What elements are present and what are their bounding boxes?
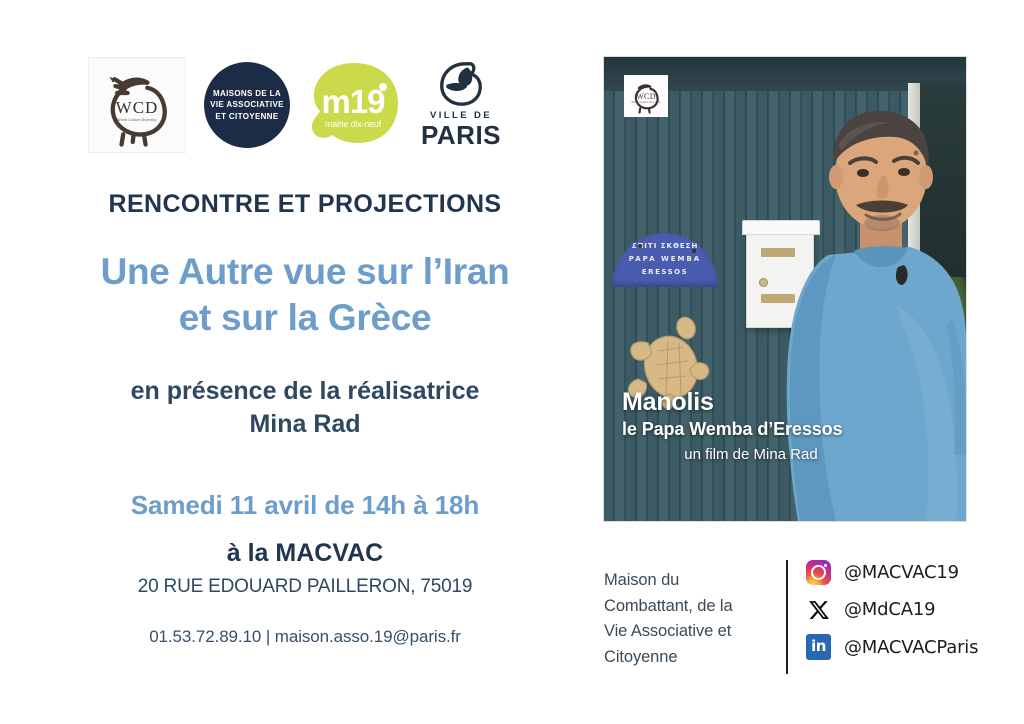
poster-subtitle: le Papa Wemba d’Eressos	[622, 419, 922, 440]
linkedin-handle: @MACVACParis	[844, 637, 978, 658]
sign-line-1: ΣΠΙΤΙ ΣΚΘΕΣΗ	[612, 242, 718, 250]
event-presence-line-2: Mina Rad	[40, 408, 570, 442]
poster-title: Manolis	[622, 389, 922, 415]
linkedin-icon: in	[806, 634, 831, 660]
paris-boat-icon	[438, 62, 484, 106]
event-headline-line-1: Une Autre vue sur l’Iran	[40, 249, 570, 295]
instagram-handle: @MACVAC19	[844, 562, 959, 583]
wcd-goat-icon	[627, 78, 665, 114]
instagram-icon	[806, 560, 831, 585]
venue-line-4: Citoyenne	[604, 645, 774, 671]
poster-caption: Manolis le Papa Wemba d’Eressos un film …	[622, 389, 922, 463]
venue-line-3: Vie Associative et	[604, 619, 774, 645]
social-link-linkedin[interactable]: in @MACVACParis	[806, 634, 978, 660]
venue-line-1: Maison du	[604, 568, 774, 594]
sign-line-3: ERESSOS	[612, 268, 718, 276]
event-address: 20 RUE EDOUARD PAILLERON, 75019	[40, 576, 570, 598]
logo-macvac-circle: MAISONS DE LA VIE ASSOCIATIVE ET CITOYEN…	[204, 62, 290, 148]
mailbox-lock-icon	[759, 278, 768, 287]
footer-section: Maison du Combattant, de la Vie Associat…	[604, 560, 1004, 674]
poster-wcd-badge: WCD World Culture Diversity	[624, 75, 668, 117]
macvac-circle-text: MAISONS DE LA VIE ASSOCIATIVE ET CITOYEN…	[210, 88, 284, 123]
vertical-divider	[786, 560, 788, 674]
logo-ville-de-paris: VILLE DE PARIS	[418, 59, 504, 151]
social-link-instagram[interactable]: @MACVAC19	[806, 560, 978, 585]
event-headline: Une Autre vue sur l’Iran et sur la Grèce	[40, 249, 570, 342]
blue-house-sign: ΣΠΙΤΙ ΣΚΘΕΣΗ PAPA WEMBA ERESSOS	[612, 233, 718, 287]
event-venue-name: à la MACVAC	[40, 539, 570, 568]
m19-dot-icon	[379, 83, 387, 91]
wcd-goat-icon	[93, 62, 181, 148]
m19-logo-subtext: mairie dix-neuf	[308, 119, 398, 129]
social-link-x[interactable]: @MdCA19	[806, 597, 978, 622]
event-contact: 01.53.72.89.10 | maison.asso.19@paris.fr	[40, 627, 570, 647]
logo-m19: m19 mairie dix-neuf	[308, 61, 400, 149]
event-presence: en présence de la réalisatrice Mina Rad	[40, 375, 570, 443]
sign-screw-right	[692, 249, 696, 253]
logo-wcd: WCD World Culture Diversity	[88, 57, 186, 153]
event-headline-line-2: et sur la Grèce	[40, 295, 570, 341]
sign-line-2: PAPA WEMBA	[612, 255, 718, 263]
event-datetime: Samedi 11 avril de 14h à 18h	[40, 490, 570, 521]
x-twitter-icon	[806, 597, 831, 622]
poster-credit: un film de Mina Rad	[622, 446, 880, 463]
event-info-column: RENCONTRE ET PROJECTIONS Une Autre vue s…	[40, 190, 570, 647]
venue-line-2: Combattant, de la	[604, 594, 774, 620]
sign-screw-left	[638, 244, 642, 248]
venue-address-block: Maison du Combattant, de la Vie Associat…	[604, 560, 774, 670]
x-handle: @MdCA19	[844, 599, 935, 620]
social-links-list: @MACVAC19 @MdCA19 in @MACVACParis	[806, 560, 978, 660]
partner-logo-strip: WCD World Culture Diversity MAISONS DE L…	[88, 55, 508, 155]
film-poster-photo: WCD World Culture Diversity ΣΠΙΤΙ ΣΚΘΕΣΗ…	[604, 57, 966, 521]
event-presence-line-1: en présence de la réalisatrice	[40, 375, 570, 409]
event-kicker: RENCONTRE ET PROJECTIONS	[40, 190, 570, 219]
paris-logo-big-text: PARIS	[421, 122, 501, 148]
